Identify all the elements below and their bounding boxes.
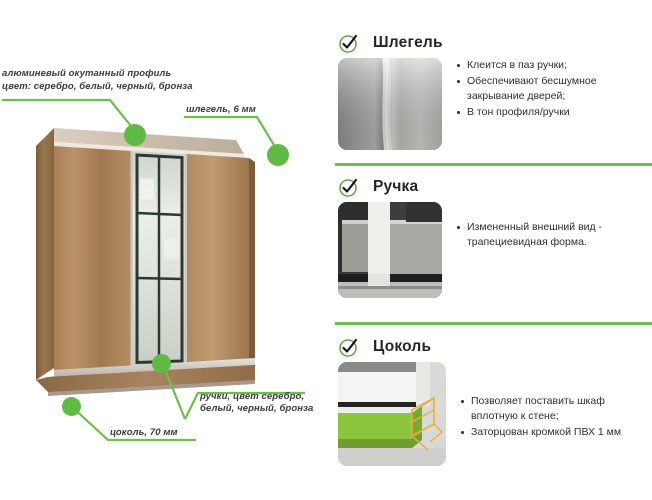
feature-handle-header: Ручка [330,172,652,202]
shlegel-photo [338,58,442,150]
annotation-shlegel-line1: шлегель, 6 мм [186,104,256,117]
feature-handle-title: Ручка [373,178,418,196]
bullet-item: Заторцован кромкой ПВХ 1 мм [460,425,652,440]
feature-shlegel-title: Шлегель [373,34,443,52]
feature-plinth-header: Цоколь [330,332,652,362]
handle-photo [338,202,442,298]
bullet-item: В тон профиля/ручки [456,105,652,120]
bullet-item: Измененный внешний вид - трапециевидная … [456,220,652,250]
feature-plinth-title: Цоколь [373,338,431,356]
product-illustration-panel: алюминевый окутанный профиль цвет: сереб… [0,0,330,500]
bullet-item: Обеспечивают бесшумное закрывание дверей… [456,74,652,104]
marker-dot-shlegel [267,144,289,166]
feature-plinth-bullets: Позволяет поставить шкаф вплотную к стен… [460,362,652,441]
check-circle-icon [338,176,360,198]
annotation-handles-line1: ручки, цвет серебро, [200,391,304,404]
page-root: алюминевый окутанный профиль цвет: сереб… [0,0,652,500]
features-panel: Шлегель [330,0,652,500]
feature-plinth: Цоколь [330,332,652,466]
feature-plinth-body: Позволяет поставить шкаф вплотную к стен… [330,362,652,466]
check-circle-icon [338,336,360,358]
feature-handle: Ручка [330,172,652,298]
section-divider-2 [335,322,652,325]
feature-shlegel: Шлегель [330,28,652,150]
feature-shlegel-bullets: Клеится в паз ручки; Обеспечивают бесшум… [456,58,652,121]
annotation-profile-line1: алюминевый окутанный профиль [2,68,171,81]
check-circle-icon [338,32,360,54]
marker-dot-plinth [62,397,81,416]
plinth-photo [338,362,446,466]
annotation-profile-line2: цвет: серебро, белый, черный, бронза [2,81,193,94]
section-divider-1 [335,163,652,166]
bullet-item: Клеится в паз ручки; [456,58,652,73]
annotation-plinth-line1: цоколь, 70 мм [110,427,178,440]
marker-dot-profile [124,124,146,146]
annotation-handles-line2: белый, черный, бронза [200,403,313,416]
feature-shlegel-body: Клеится в паз ручки; Обеспечивают бесшум… [330,58,652,150]
bullet-item: Позволяет поставить шкаф вплотную к стен… [460,394,652,424]
feature-handle-bullets: Измененный внешний вид - трапециевидная … [456,202,652,251]
marker-dot-handles [152,354,171,373]
feature-shlegel-header: Шлегель [330,28,652,58]
feature-handle-body: Измененный внешний вид - трапециевидная … [330,202,652,298]
